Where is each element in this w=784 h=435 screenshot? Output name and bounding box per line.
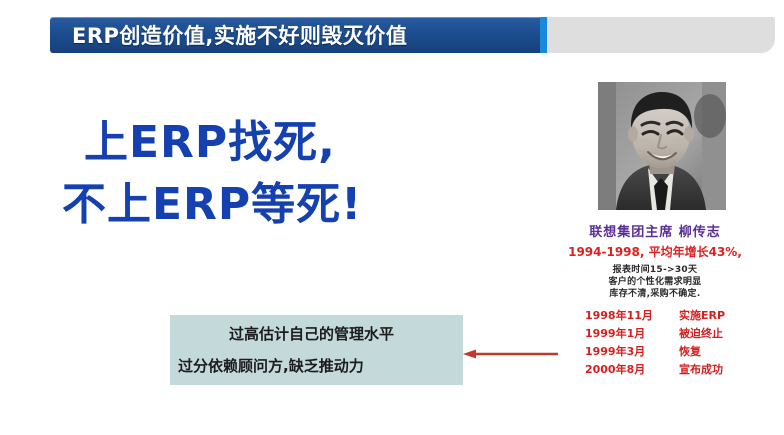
timeline-date: 1998年11月 [585, 307, 667, 325]
title-blue-box: ERP创造价值,实施不好则毁灭价值 [50, 17, 540, 53]
title-gray-strip [540, 17, 775, 53]
attribution-line: 联想集团主席 柳传志 [530, 224, 780, 242]
info-block: 联想集团主席 柳传志 1994-1998, 平均年增长43%, 报表时间15->… [530, 224, 780, 379]
slogan-line-2: 不上ERP等死! [62, 174, 502, 236]
callout-line-1: 过高估计自己的管理水平 [170, 318, 463, 350]
callout-line-2: 过分依赖顾问方,缺乏推动力 [170, 350, 463, 382]
portrait-image [598, 82, 726, 210]
sub-note: 库存不清,采购不确定. [530, 288, 780, 300]
portrait-photo [598, 82, 726, 210]
timeline-event: 宣布成功 [667, 361, 723, 379]
timeline-row: 1999年3月 恢复 [585, 343, 725, 361]
timeline-event: 恢复 [667, 343, 701, 361]
slide-title-banner: ERP创造价值,实施不好则毁灭价值 [50, 17, 775, 53]
timeline-row: 1999年1月 被迫终止 [585, 325, 725, 343]
timeline-event: 实施ERP [667, 307, 725, 325]
slogan-line-1: 上ERP找死, [62, 112, 502, 174]
page-title: ERP创造价值,实施不好则毁灭价值 [50, 20, 407, 50]
timeline-event: 被迫终止 [667, 325, 723, 343]
slogan-block: 上ERP找死, 不上ERP等死! [62, 112, 502, 236]
sub-notes-list: 报表时间15->30天 客户的个性化需求明显 库存不清,采购不确定. [530, 264, 780, 300]
sub-note: 客户的个性化需求明显 [530, 276, 780, 288]
timeline-row: 1998年11月 实施ERP [585, 307, 725, 325]
timeline-date: 1999年1月 [585, 325, 667, 343]
timeline-row: 2000年8月 宣布成功 [585, 361, 725, 379]
timeline-date: 2000年8月 [585, 361, 667, 379]
growth-statistic: 1994-1998, 平均年增长43%, [530, 243, 780, 261]
erp-timeline: 1998年11月 实施ERP 1999年1月 被迫终止 1999年3月 恢复 2… [585, 307, 725, 379]
sub-note: 报表时间15->30天 [530, 264, 780, 276]
callout-arrow [463, 345, 558, 357]
left-arrow-icon [463, 348, 558, 360]
callout-box: 过高估计自己的管理水平 过分依赖顾问方,缺乏推动力 [170, 315, 463, 385]
timeline-date: 1999年3月 [585, 343, 667, 361]
